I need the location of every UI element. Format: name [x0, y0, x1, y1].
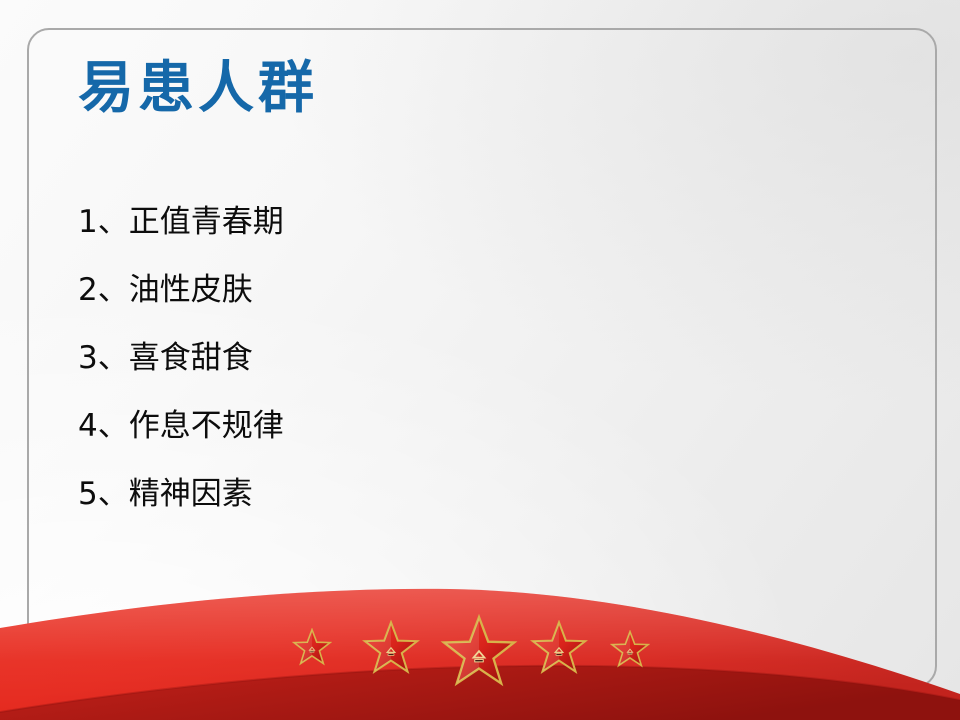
- list-item: 3、喜食甜食: [78, 324, 718, 392]
- bullet-list: 1、正值青春期 2、油性皮肤 3、喜食甜食 4、作息不规律 5、精神因素: [78, 188, 718, 528]
- red-ribbon-decoration: [0, 560, 960, 720]
- list-item: 5、精神因素: [78, 460, 718, 528]
- list-item: 2、油性皮肤: [78, 256, 718, 324]
- presentation-slide: 易患人群 1、正值青春期 2、油性皮肤 3、喜食甜食 4、作息不规律 5、精神因…: [0, 0, 960, 720]
- slide-title: 易患人群: [78, 54, 318, 122]
- list-item: 1、正值青春期: [78, 188, 718, 256]
- list-item: 4、作息不规律: [78, 392, 718, 460]
